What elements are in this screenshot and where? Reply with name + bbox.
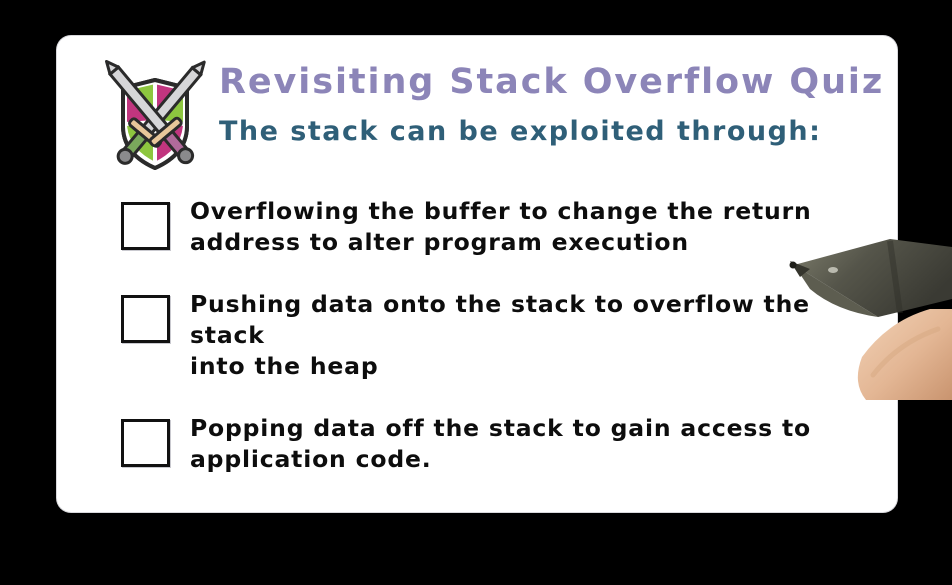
checkbox-option-1[interactable]	[121, 202, 170, 250]
option-label: Pushing data onto the stack to overflow …	[190, 289, 880, 382]
option-label: Popping data off the stack to gain acces…	[190, 413, 811, 475]
checkbox-option-2[interactable]	[121, 295, 170, 343]
quiz-option-1[interactable]: Overflowing the buffer to change the ret…	[57, 196, 897, 258]
option-label: Overflowing the buffer to change the ret…	[190, 196, 812, 258]
quiz-option-2[interactable]: Pushing data onto the stack to overflow …	[57, 289, 897, 382]
quiz-header: Revisiting Stack Overflow Quiz The stack…	[57, 36, 897, 176]
screen-root: Revisiting Stack Overflow Quiz The stack…	[0, 0, 952, 585]
quiz-options-list: Overflowing the buffer to change the ret…	[57, 196, 897, 506]
quiz-option-3[interactable]: Popping data off the stack to gain acces…	[57, 413, 897, 475]
quiz-question: The stack can be exploited through:	[219, 112, 879, 152]
ink-dot	[873, 388, 877, 392]
checkbox-option-3[interactable]	[121, 419, 170, 467]
page-title: Revisiting Stack Overflow Quiz	[219, 58, 879, 106]
title-block: Revisiting Stack Overflow Quiz The stack…	[219, 58, 879, 152]
quiz-card: Revisiting Stack Overflow Quiz The stack…	[57, 36, 897, 512]
crossed-swords-shield-logo	[99, 58, 211, 176]
